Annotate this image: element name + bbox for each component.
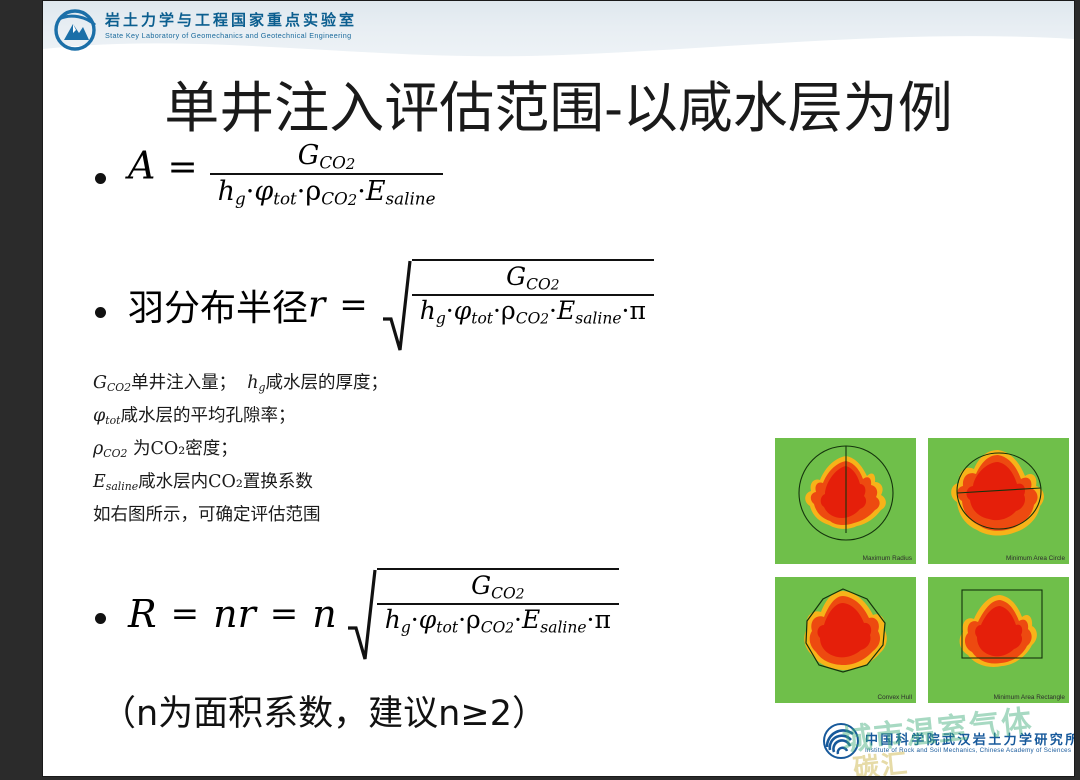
legend-line-1: GCO2单井注入量； hg咸水层的厚度； bbox=[93, 369, 388, 402]
bullet-dot-3 bbox=[95, 613, 106, 624]
formula1-fraction: GCO2 hg·φtot·ρCO2·Esaline bbox=[210, 141, 444, 209]
institute-logo-block: 中国科学院武汉岩土力学研究所 Institute of Rock and Soi… bbox=[823, 719, 1073, 767]
plume-shape bbox=[960, 595, 1037, 667]
lab-title-block: 岩土力学与工程国家重点实验室 State Key Laboratory of G… bbox=[105, 12, 357, 42]
figure-panel-convex-hull[interactable]: Convex Hull bbox=[774, 576, 917, 704]
formula3-fraction: GCO2 hg·φtot·ρCO2·Esaline·π bbox=[377, 573, 619, 636]
figure-panel-minimum-area-circle[interactable]: Minimum Area Circle bbox=[927, 437, 1070, 565]
page-title: 单井注入评估范围-以咸水层为例 bbox=[43, 63, 1074, 143]
panel-label-convex-hull: Convex Hull bbox=[878, 694, 912, 701]
formula-range-R: R = nr = n GCO2 hg·φtot·ρCO2·Esaline·π bbox=[128, 568, 619, 660]
symbol-legend: GCO2单井注入量； hg咸水层的厚度； φtot咸水层的平均孔隙率； ρCO2… bbox=[93, 369, 388, 530]
formula1-numerator: GCO2 bbox=[210, 141, 444, 173]
formula2-sqrt: GCO2 hg·φtot·ρCO2·Esaline·π bbox=[382, 259, 654, 351]
panel-label-maximum-radius: Maximum Radius bbox=[863, 555, 912, 562]
institute-name-cn: 中国科学院武汉岩土力学研究所 bbox=[865, 729, 1075, 748]
plume-convex-hull-plot bbox=[775, 577, 917, 704]
figure-panel-grid: Maximum Radius Minimum Area Circle bbox=[774, 437, 1072, 707]
formula2-lhs: r bbox=[308, 285, 325, 326]
radical-sign-icon bbox=[347, 568, 377, 660]
bullet-dot-1 bbox=[95, 173, 106, 184]
formula3-sqrt: GCO2 hg·φtot·ρCO2·Esaline·π bbox=[347, 568, 619, 660]
formula3-mid: nr bbox=[213, 592, 256, 636]
legend-line-4: Esaline咸水层内CO₂置换系数 bbox=[93, 468, 388, 501]
formula3-equals-2: = bbox=[260, 594, 309, 634]
formula3-coefficient: n bbox=[312, 592, 336, 636]
wave-circle-logo-icon bbox=[823, 723, 859, 759]
plume-minimum-area-rectangle-plot bbox=[928, 577, 1070, 704]
panel-label-minimum-area-circle: Minimum Area Circle bbox=[1006, 555, 1065, 562]
bullet-dot-2 bbox=[95, 307, 106, 318]
plume-shape bbox=[804, 591, 887, 670]
formula1-lhs: A bbox=[128, 144, 155, 188]
formula-area-A: A = GCO2 hg·φtot·ρCO2·Esaline bbox=[128, 141, 443, 209]
formula2-radicand: GCO2 hg·φtot·ρCO2·Esaline·π bbox=[412, 259, 654, 327]
panel-label-minimum-area-rectangle: Minimum Area Rectangle bbox=[994, 694, 1065, 701]
plume-maximum-radius-plot bbox=[775, 438, 917, 565]
formula2-equals: = bbox=[329, 285, 378, 325]
institute-name-en: Institute of Rock and Soil Mechanics, Ch… bbox=[865, 747, 1071, 754]
radical-sign-icon bbox=[382, 259, 412, 351]
formula1-denominator: hg·φtot·ρCO2·Esaline bbox=[210, 175, 444, 208]
formula2-fraction: GCO2 hg·φtot·ρCO2·Esaline·π bbox=[412, 264, 654, 327]
lab-name-en: State Key Laboratory of Geomechanics and… bbox=[105, 30, 357, 42]
plume-minimum-area-circle-plot bbox=[928, 438, 1070, 565]
coefficient-note: （n为面积系数，建议n≥2） bbox=[101, 685, 547, 736]
formula2-label-cn: 羽分布半径 bbox=[128, 288, 308, 329]
slide-header-band: 岩土力学与工程国家重点实验室 State Key Laboratory of G… bbox=[43, 1, 1074, 61]
formula1-equals: = bbox=[159, 147, 205, 188]
figure-panel-maximum-radius[interactable]: Maximum Radius bbox=[774, 437, 917, 565]
slide-canvas: 岩土力学与工程国家重点实验室 State Key Laboratory of G… bbox=[42, 0, 1075, 777]
lab-name-cn: 岩土力学与工程国家重点实验室 bbox=[105, 12, 357, 30]
formula3-radicand: GCO2 hg·φtot·ρCO2·Esaline·π bbox=[377, 568, 619, 636]
legend-line-5: 如右图所示，可确定评估范围 bbox=[93, 501, 388, 530]
legend-line-3: ρCO2 为CO₂密度； bbox=[93, 435, 388, 468]
figure-panel-minimum-area-rectangle[interactable]: Minimum Area Rectangle bbox=[927, 576, 1070, 704]
mountain-circle-logo-icon bbox=[53, 9, 99, 53]
formula3-equals-1: = bbox=[161, 594, 210, 634]
legend-line-2: φtot咸水层的平均孔隙率； bbox=[93, 402, 388, 435]
formula-radius-r: 羽分布半径r = GCO2 hg·φtot·ρCO2·Esaline·π bbox=[128, 259, 654, 351]
formula3-lhs: R bbox=[128, 592, 157, 636]
